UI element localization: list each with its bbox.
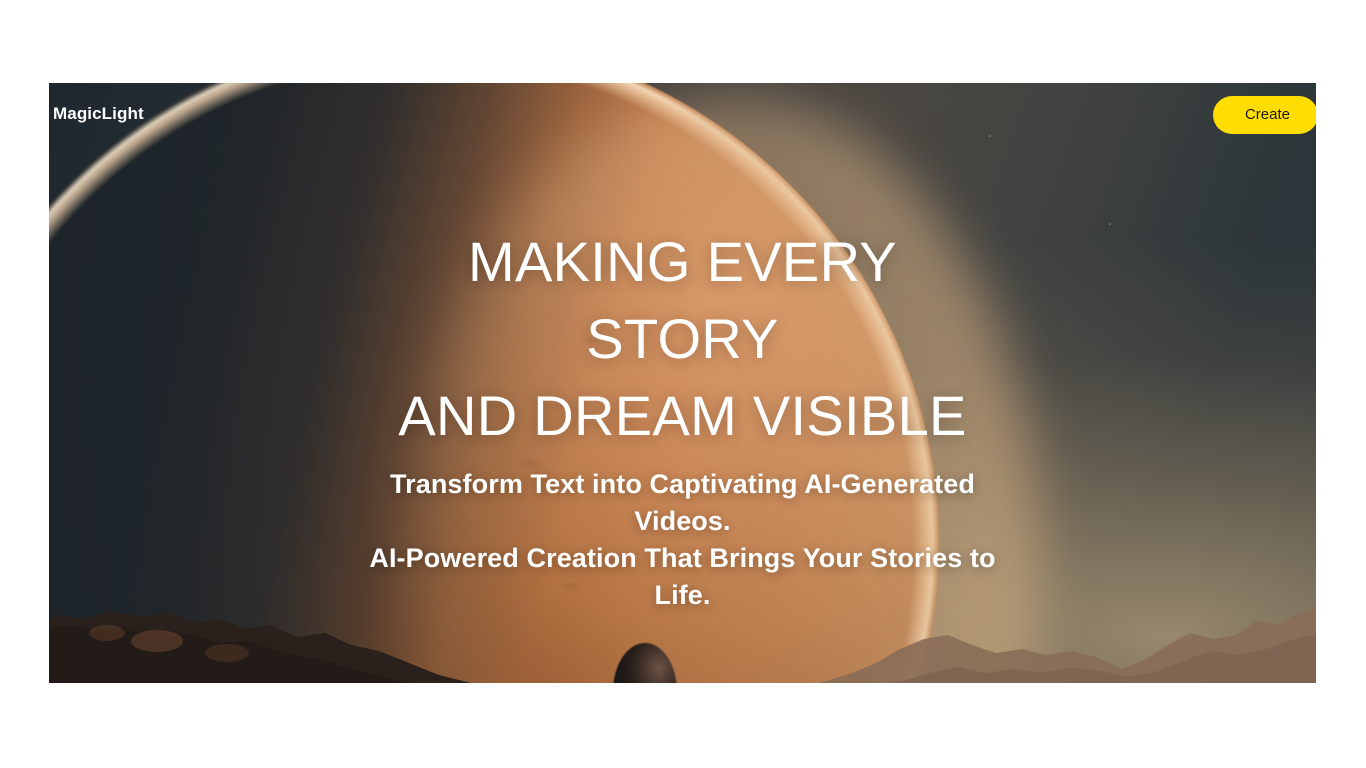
- subheadline-line-2: Videos.: [49, 503, 1316, 540]
- hero-copy: MAKING EVERY STORY AND DREAM VISIBLE Tra…: [49, 223, 1316, 614]
- headline-line-1: MAKING EVERY: [49, 223, 1316, 300]
- create-button[interactable]: Create: [1213, 96, 1316, 134]
- page-viewport: MagicLight Create MAKING EVERY STORY AND…: [0, 0, 1366, 768]
- headline-line-2: STORY: [49, 300, 1316, 377]
- hero-headline: MAKING EVERY STORY AND DREAM VISIBLE: [49, 223, 1316, 454]
- subheadline-line-1: Transform Text into Captivating AI-Gener…: [49, 466, 1316, 503]
- brand-logo[interactable]: MagicLight: [53, 104, 144, 124]
- headline-line-3: AND DREAM VISIBLE: [49, 377, 1316, 454]
- hero-subheadline: Transform Text into Captivating AI-Gener…: [49, 466, 1316, 614]
- subheadline-line-4: Life.: [49, 577, 1316, 614]
- site-header: MagicLight Create: [49, 83, 1316, 147]
- hero-section: MagicLight Create MAKING EVERY STORY AND…: [49, 83, 1316, 683]
- subheadline-line-3: AI-Powered Creation That Brings Your Sto…: [49, 540, 1316, 577]
